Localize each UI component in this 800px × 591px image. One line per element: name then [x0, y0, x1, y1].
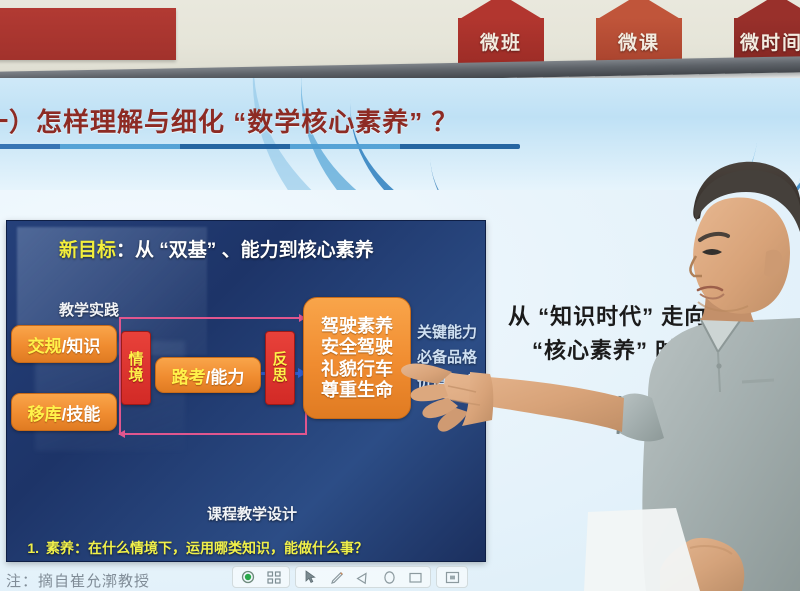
thumbnail-grid-icon[interactable] — [262, 567, 286, 587]
plaque-roof-icon — [734, 0, 800, 20]
plaque-roof-icon — [458, 0, 544, 20]
label-teaching-practice: 教学实践 — [59, 299, 119, 320]
box-a-primary: 交规 — [28, 332, 62, 357]
outcome-item-0: 安全驾驶 — [321, 337, 393, 357]
list-item-number: 1. — [23, 537, 39, 560]
toolbar-group-tools[interactable] — [295, 566, 431, 588]
plaque-roof-icon — [596, 0, 682, 20]
box-reflection: 反思 — [265, 331, 295, 405]
outcome-title: 驾驶素养 — [321, 316, 393, 336]
label-curriculum-design: 课程教学设计 — [207, 503, 297, 524]
side-item-1: 必备品格 — [417, 346, 477, 371]
diagram-panel: 新目标：从 “双基” 、能力到核心素养 教学实践 课程教学设计 交规/知识 移库… — [6, 220, 486, 562]
box-road-test-ability: 路考/能力 — [155, 357, 261, 393]
list-item: 2. 知识：内容知识、程序性知识、认识论知识 — [23, 560, 475, 562]
side-item-0: 关键能力 — [417, 321, 477, 346]
toolbar-group-screen[interactable] — [436, 566, 468, 588]
competency-side-column: 关键能力 必备品格 价值观念 — [417, 321, 477, 395]
plaque-label: 微时间 — [734, 28, 800, 55]
outcome-item-2: 尊重生命 — [321, 380, 393, 400]
side-item-2: 价值观念 — [417, 371, 477, 396]
panel-heading-highlight: 新目标 — [59, 240, 116, 261]
list-item-number: 2. — [23, 560, 39, 562]
screen-icon[interactable] — [440, 567, 464, 587]
flow-arrow-top — [119, 317, 305, 319]
cursor-icon[interactable] — [299, 567, 323, 587]
right-caption-line-2: “核心素养” 时代 — [532, 334, 798, 368]
slide-source-note: 注：摘自崔允漷教授 — [6, 570, 150, 591]
wall-red-banner — [0, 8, 176, 60]
eraser-icon[interactable] — [351, 567, 375, 587]
box-c-primary: 路考 — [172, 363, 206, 388]
projection-screen: 一）怎样理解与细化 “数学核心素养” ？ 从 “知识时代” 走向 “核心素养” … — [0, 78, 800, 591]
list-item: 1. 素养：在什么情境下，运用哪类知识，能做什么事？ — [23, 537, 475, 560]
plaque-label: 微课 — [596, 28, 682, 55]
box-driving-literacy: 驾驶素养 安全驾驶 礼貌行车 尊重生命 — [303, 297, 411, 419]
plaque-label: 微班 — [458, 28, 544, 55]
pen-icon[interactable] — [325, 567, 349, 587]
box-situation: 情境 — [121, 331, 151, 405]
rectangle-icon[interactable] — [403, 567, 427, 587]
box-b-primary: 移库 — [28, 400, 62, 425]
slide-title: 一）怎样理解与细化 “数学核心素养” ？ — [0, 102, 458, 139]
panel-heading: 新目标：从 “双基” 、能力到核心素养 — [59, 235, 374, 262]
list-item-text: 知识：内容知识、程序性知识、认识论知识 — [46, 560, 312, 562]
box-parking-skill: 移库/技能 — [11, 393, 117, 431]
panel-numbered-list: 1. 素养：在什么情境下，运用哪类知识，能做什么事？ 2. 知识：内容知识、程序… — [23, 537, 475, 562]
title-underline — [0, 144, 520, 149]
box-a-secondary: /知识 — [62, 332, 101, 357]
toolbar-group-left[interactable] — [232, 566, 290, 588]
right-caption-line-1: 从 “知识时代” 走向 — [508, 304, 707, 329]
laser-pointer-icon[interactable] — [236, 567, 260, 587]
presentation-toolbar[interactable] — [232, 565, 468, 589]
slide-right-caption: 从 “知识时代” 走向 “核心素养” 时代 — [508, 300, 798, 368]
flow-arrow-bottom — [119, 433, 307, 435]
ellipse-icon[interactable] — [377, 567, 401, 587]
screenshot-stage: 微班 微课 微时间 一）怎样理解与细化 “数学核心素养” ？ 从 “知识时代” … — [0, 0, 800, 591]
box-traffic-rules-knowledge: 交规/知识 — [11, 325, 117, 363]
wall-plaque-1: 微课 — [596, 0, 682, 66]
outcome-item-1: 礼貌行车 — [321, 359, 393, 379]
panel-heading-rest: ：从 “双基” 、能力到核心素养 — [116, 240, 374, 261]
wall-plaque-0: 微班 — [458, 0, 544, 66]
box-b-secondary: /技能 — [62, 400, 101, 425]
box-c-secondary: /能力 — [206, 363, 245, 388]
list-item-text: 素养：在什么情境下，运用哪类知识，能做什么事？ — [46, 537, 368, 560]
